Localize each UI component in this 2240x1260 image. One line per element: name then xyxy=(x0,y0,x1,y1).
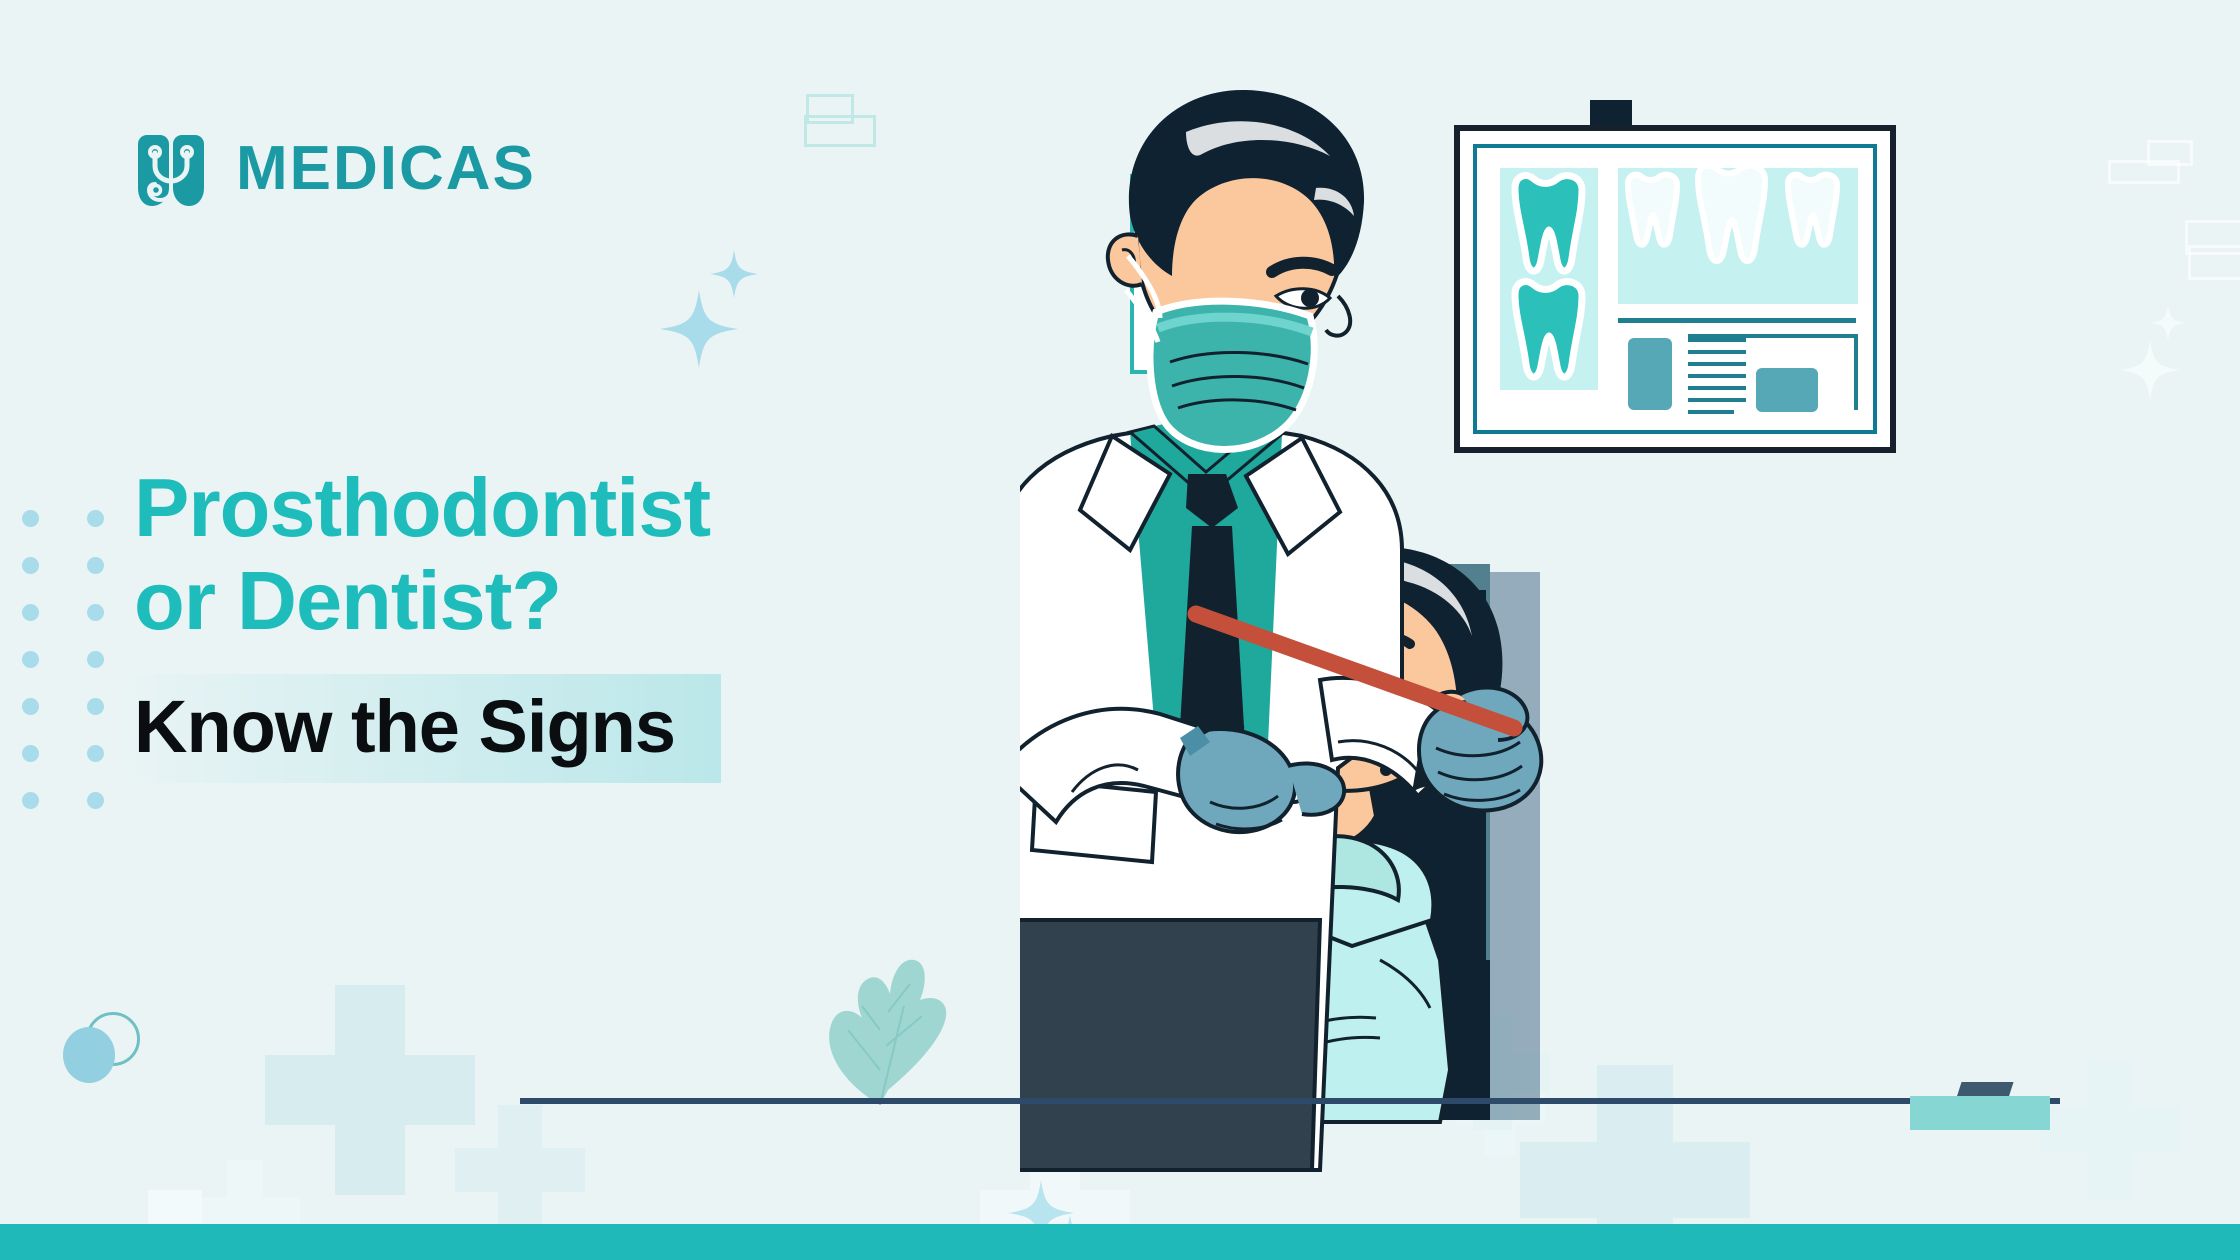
headline-highlight-text: Know the Signs xyxy=(134,685,675,768)
leaf-icon xyxy=(818,950,948,1105)
bottom-accent-bar xyxy=(0,1224,2240,1260)
decor-rect-top-a xyxy=(806,94,854,124)
floor-line xyxy=(520,1098,2060,1104)
stethoscope-monogram-icon xyxy=(132,130,210,208)
dot-grid-pattern xyxy=(22,510,104,809)
brand-name: MEDICAS xyxy=(236,138,536,200)
cross-icon xyxy=(265,985,475,1195)
headline-line-1: Prosthodontist xyxy=(134,462,954,555)
decor-circle-filled xyxy=(63,1027,115,1083)
sparkle-icon xyxy=(710,250,758,298)
decor-bottom-right-rect xyxy=(1910,1096,2050,1130)
xray-viewer-board xyxy=(1457,100,1893,450)
headline-block: Prosthodontist or Dentist? Know the Sign… xyxy=(134,462,954,783)
decor-circle-outline xyxy=(86,1012,140,1066)
brand-logo[interactable]: MEDICAS xyxy=(132,130,536,208)
headline-line-2: or Dentist? xyxy=(134,555,954,648)
sparkle-icon xyxy=(660,290,738,368)
decor-rect-top-b xyxy=(804,115,876,147)
cross-icon xyxy=(455,1105,585,1235)
dentist-illustration xyxy=(1020,80,2240,1220)
banner-canvas: MEDICAS Prosthodontist or Dentist? Know … xyxy=(0,0,2240,1260)
headline-highlight-wrap: Know the Signs xyxy=(134,674,697,783)
